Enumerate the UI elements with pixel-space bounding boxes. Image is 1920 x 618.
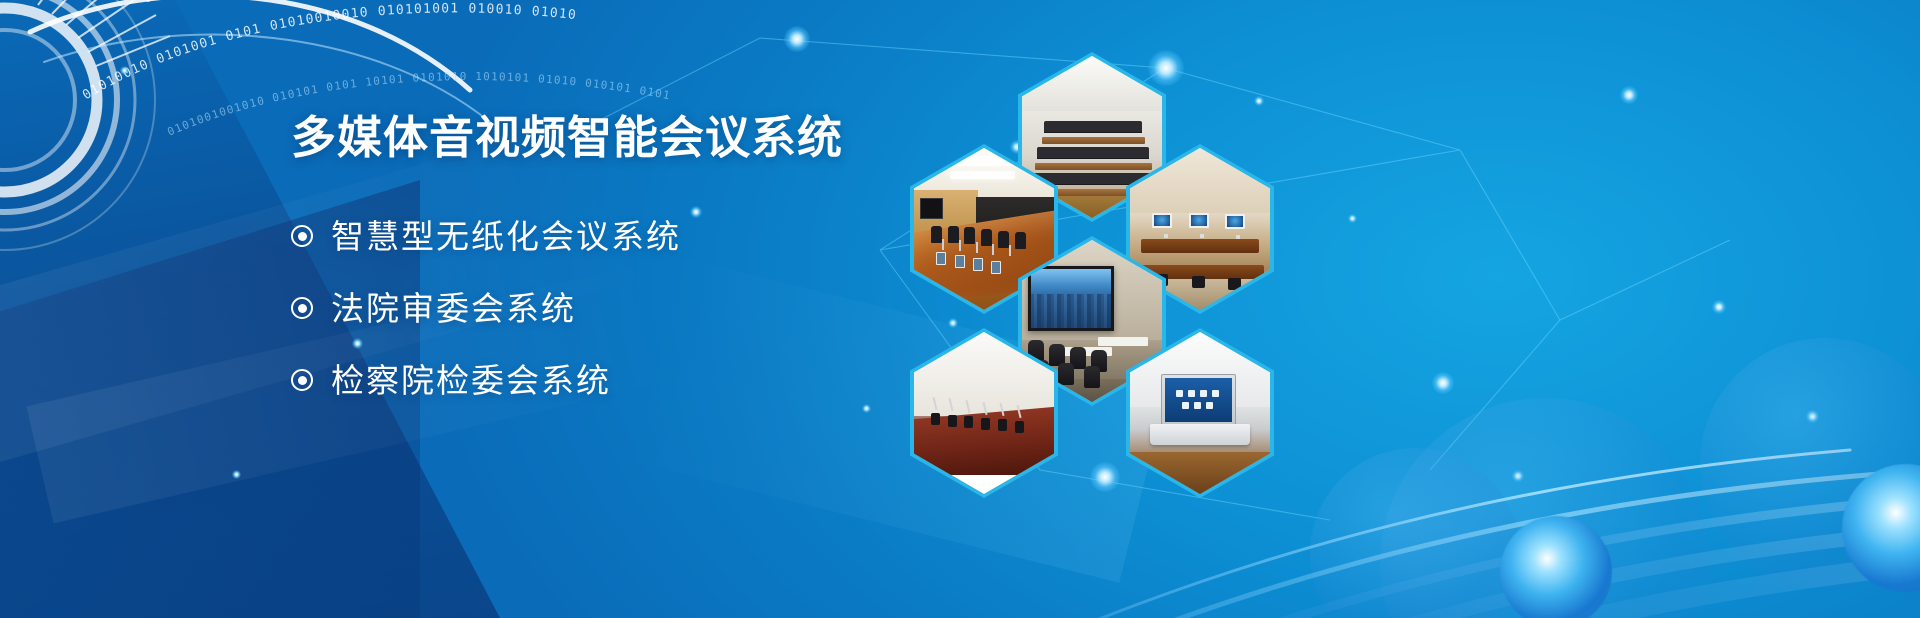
list-item-label: 检察院检委会系统	[331, 364, 611, 397]
promo-banner: 01010010 0101001 0101 01010010010 010101…	[0, 0, 1920, 618]
list-item[interactable]: 智慧型无纸化会议系统	[291, 200, 931, 272]
page-title: 多媒体音视频智能会议系统	[291, 112, 931, 164]
photo	[1130, 332, 1270, 494]
circled-dot-icon	[291, 297, 313, 319]
photo	[914, 332, 1054, 494]
list-item-label: 智慧型无纸化会议系统	[331, 220, 681, 253]
circled-dot-icon	[291, 225, 313, 247]
list-item-label: 法院审委会系统	[331, 292, 576, 325]
circled-dot-icon	[291, 369, 313, 391]
hexagon-photo-cluster	[890, 46, 1310, 406]
laptop-terminal-photo	[1130, 332, 1270, 494]
feature-list: 智慧型无纸化会议系统 法院审委会系统 检察院检委会系统	[291, 200, 931, 416]
microphone-desk-photo	[914, 332, 1054, 494]
list-item[interactable]: 检察院检委会系统	[291, 344, 931, 416]
list-item[interactable]: 法院审委会系统	[291, 272, 931, 344]
banner-copy: 多媒体音视频智能会议系统 智慧型无纸化会议系统 法院审委会系统 检察院检委会系统	[291, 112, 931, 416]
